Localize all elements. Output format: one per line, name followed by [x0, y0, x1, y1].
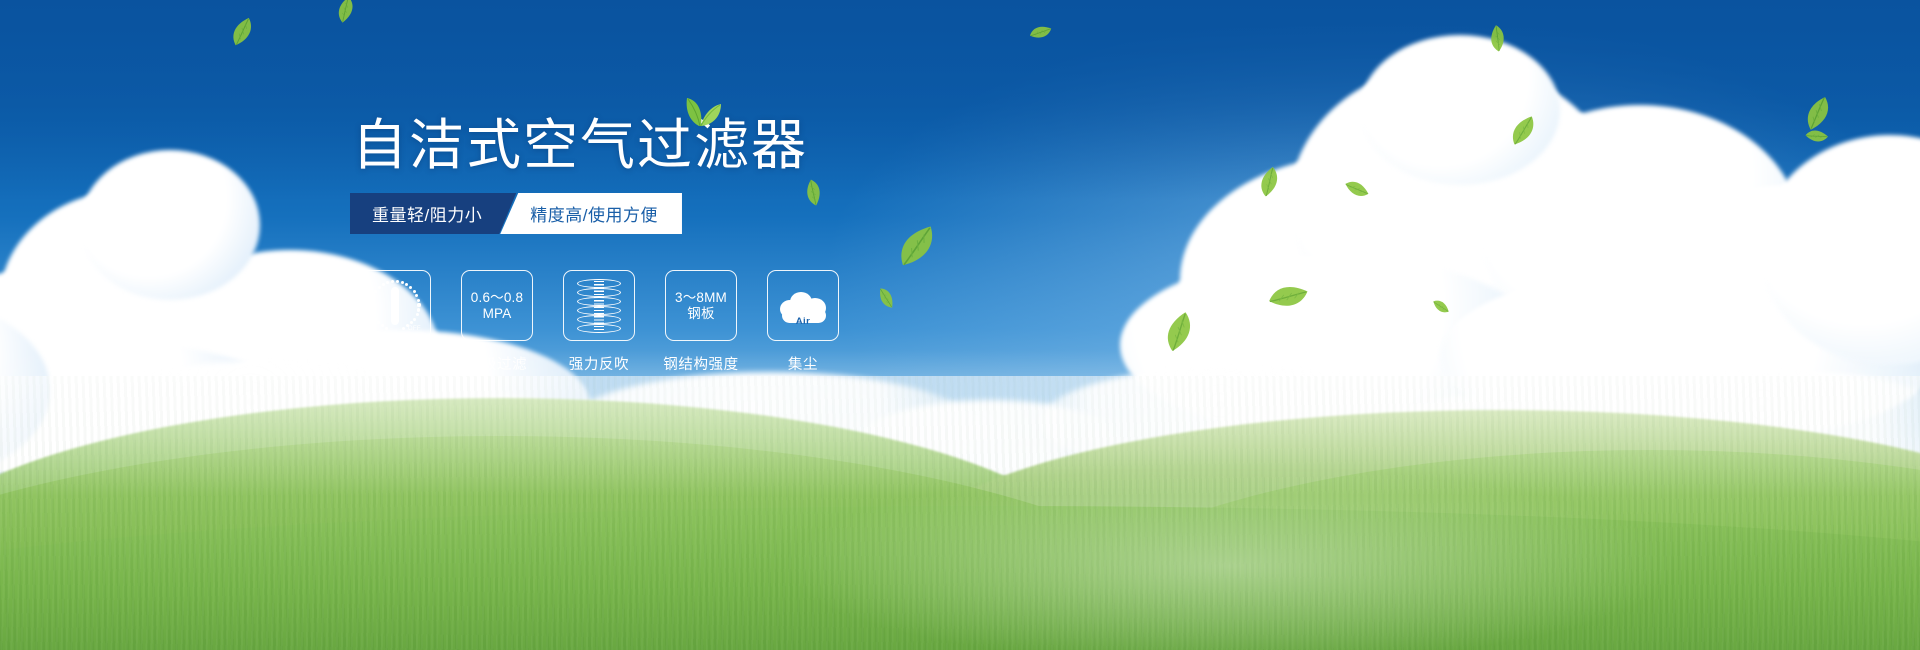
pressure-value: 0.6～0.8	[471, 290, 523, 306]
gauge-tick	[385, 327, 388, 330]
feature-label-dust-collection: 集尘	[788, 353, 818, 374]
gauge-tick	[391, 280, 394, 283]
feature-label-two-stage-filter: 二级过滤	[467, 353, 527, 374]
gauge-tick	[374, 290, 377, 293]
gauge-tick	[396, 280, 399, 283]
gauge-tick	[386, 281, 389, 284]
gauge-tick	[381, 324, 384, 327]
gauge-tick	[370, 299, 373, 302]
gauge-tick	[371, 313, 374, 316]
gauge-tick	[416, 313, 419, 316]
gauge-tick	[405, 283, 408, 286]
feature-label-controller: 控制仪	[372, 353, 417, 374]
title-leaf-icon	[679, 92, 723, 133]
gauge-tick	[382, 283, 385, 286]
feature-box-controller[interactable]: NO OFF	[359, 270, 431, 341]
gauge-tick	[370, 308, 373, 311]
feature-item-backblow[interactable]: 强力反吹	[563, 270, 635, 374]
feature-box-steel-plate[interactable]: 3～8MM 钢板	[665, 270, 737, 341]
pressure-unit: MPA	[483, 306, 512, 322]
gauge-tick	[378, 286, 381, 289]
gauge-icon: NO OFF	[367, 278, 423, 334]
feature-label-steel-strength: 钢结构强度	[663, 353, 739, 374]
steel-material: 钢板	[687, 306, 714, 322]
coil-ring	[577, 315, 621, 324]
coil-ring	[577, 306, 621, 315]
gauge-tick	[402, 327, 405, 330]
gauge-tick	[417, 303, 420, 306]
air-label: Air	[778, 316, 828, 327]
gauge-tick	[415, 294, 418, 297]
banner-content: 自洁式空气过滤器 重量轻/阻力小 精度高/使用方便 NO OFF	[0, 0, 1920, 650]
gauge-needle	[391, 287, 399, 325]
tab-high-precision[interactable]: 精度高/使用方便	[500, 193, 682, 234]
feature-box-air-cloud[interactable]: Air	[767, 270, 839, 341]
feature-tabs[interactable]: 重量轻/阻力小 精度高/使用方便	[350, 193, 682, 234]
coil-ring	[577, 297, 621, 306]
gauge-label-off: OFF	[408, 325, 421, 332]
steel-thickness: 3～8MM	[675, 290, 727, 306]
gauge-tick	[374, 318, 377, 321]
gauge-tick	[413, 318, 416, 321]
banner-hero: 自洁式空气过滤器 重量轻/阻力小 精度高/使用方便 NO OFF	[0, 0, 1920, 650]
filter-coil-icon	[577, 279, 621, 333]
feature-label-backblow: 强力反吹	[569, 353, 629, 374]
coil-ring	[577, 279, 621, 288]
feature-item-steel-strength[interactable]: 3～8MM 钢板 钢结构强度	[665, 270, 737, 374]
page-title: 自洁式空气过滤器	[352, 118, 808, 173]
feature-item-controller[interactable]: NO OFF 控制仪	[359, 270, 431, 374]
feature-item-two-stage-filter[interactable]: 0.6～0.8 MPA 二级过滤	[461, 270, 533, 374]
gauge-tick	[372, 294, 375, 297]
gauge-tick	[409, 286, 412, 289]
gauge-tick	[369, 303, 372, 306]
gauge-tick	[401, 281, 404, 284]
coil-ring	[577, 324, 621, 333]
feature-icon-list: NO OFF 控制仪 0.6～0.8 MPA 二级过滤	[359, 270, 839, 374]
air-cloud-icon: Air	[778, 286, 828, 326]
feature-item-dust-collection[interactable]: Air 集尘	[767, 270, 839, 374]
coil-ring	[577, 288, 621, 297]
feature-box-pressure[interactable]: 0.6～0.8 MPA	[461, 270, 533, 341]
tab-light-weight[interactable]: 重量轻/阻力小	[350, 193, 516, 234]
gauge-tick	[417, 299, 420, 302]
feature-box-backblow[interactable]	[563, 270, 635, 341]
gauge-tick	[377, 321, 380, 324]
gauge-tick	[413, 290, 416, 293]
gauge-tick	[417, 308, 420, 311]
